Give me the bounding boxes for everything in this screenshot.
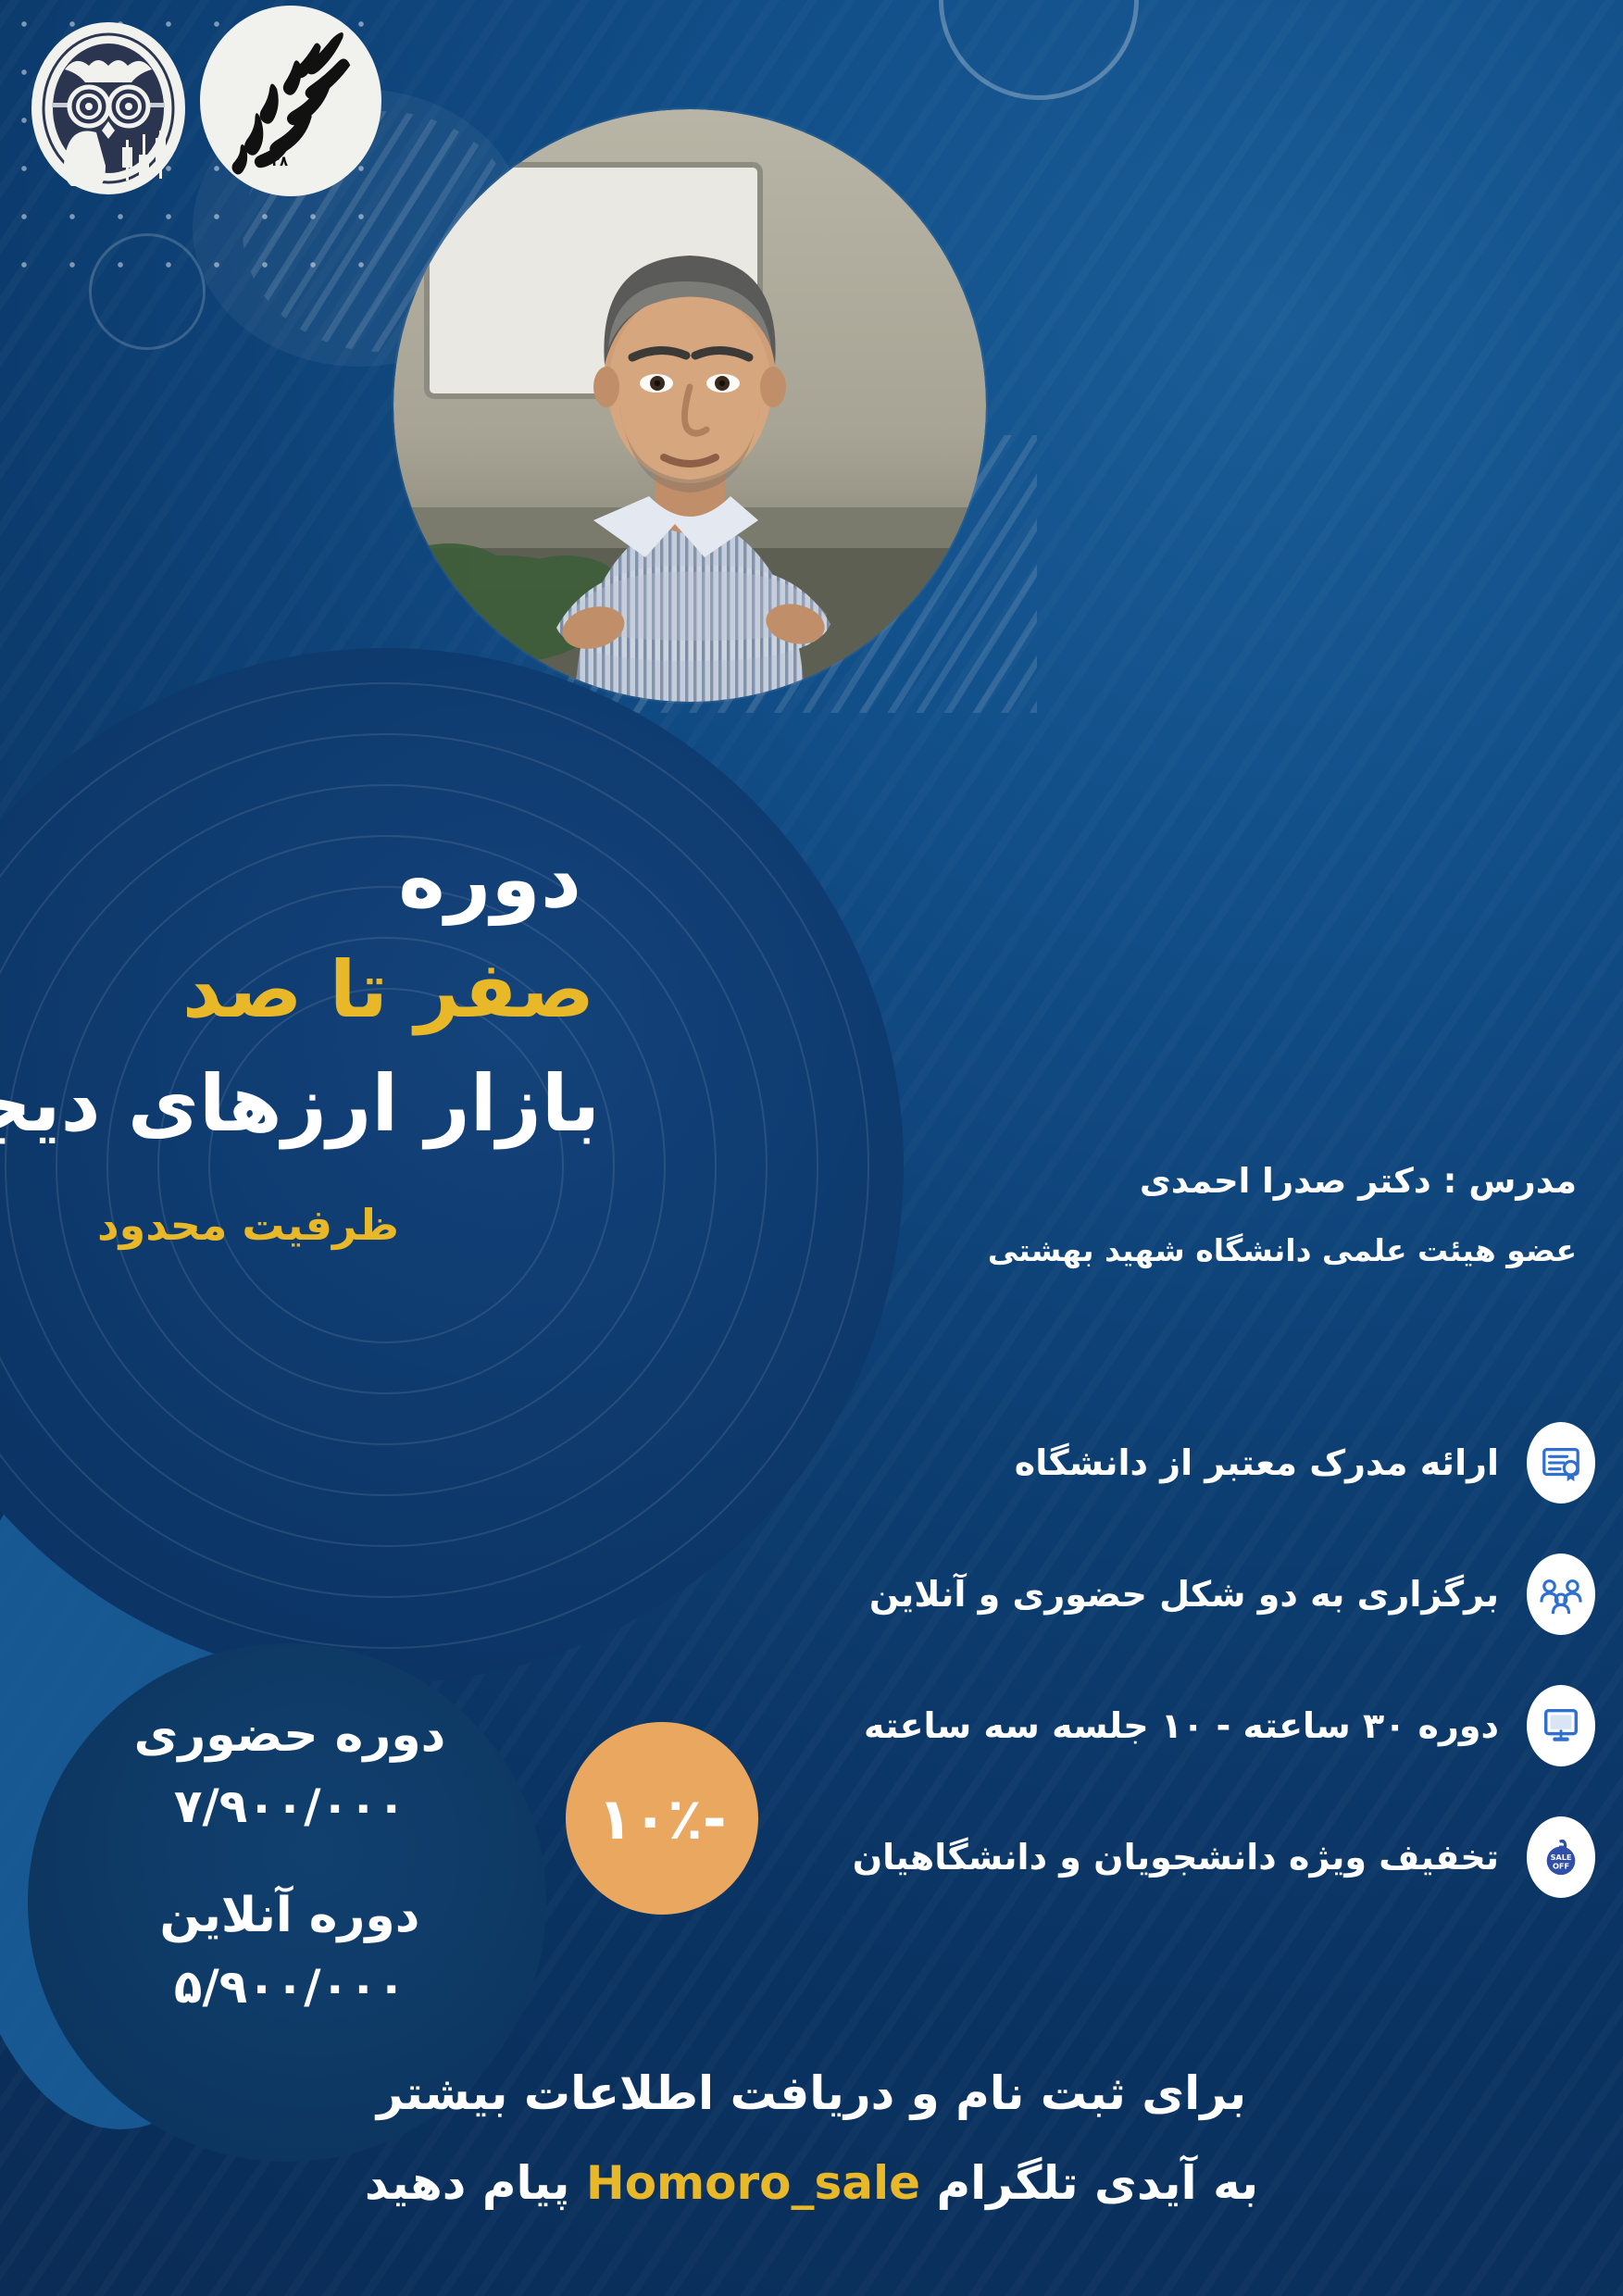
price-value-online: ۵/۹۰۰/۰۰۰	[72, 1957, 507, 2017]
price-label-inperson: دوره حضوری	[72, 1708, 507, 1764]
title-line-3-subject: بازار ارزهای دیجیتال	[7, 1059, 600, 1149]
feature-row-format: برگزاری به دو شکل حضوری و آنلاین	[595, 1539, 1604, 1650]
title-line-2-highlight: صفر تا صد	[7, 945, 600, 1035]
instructor-credit-block: مدرس : دکتر صدرا احمدی عضو هیئت علمی دان…	[595, 1157, 1586, 1272]
course-title-block: دوره صفر تا صد بازار ارزهای دیجیتال ظرفی…	[7, 838, 600, 1252]
instructor-portrait	[393, 109, 986, 702]
ring-decoration-small	[89, 233, 206, 350]
price-label-online: دوره آنلاین	[72, 1889, 507, 1944]
pricing-block: دوره حضوری ۷/۹۰۰/۰۰۰ دوره آنلاین ۵/۹۰۰/۰…	[72, 1708, 507, 2017]
monitor-icon	[1527, 1685, 1595, 1766]
telegram-handle[interactable]: Homoro_sale	[586, 2156, 920, 2210]
instructor-affiliation: عضو هیئت علمی دانشگاه شهید بهشتی	[595, 1229, 1577, 1272]
feature-label-certificate: ارائه مدرک معتبر از دانشگاه	[1015, 1442, 1499, 1483]
call-to-action-block: برای ثبت نام و دریافت اطلاعات بیشتر به آ…	[0, 2060, 1623, 2216]
svg-text:۱۳۳۸: ۱۳۳۸	[255, 154, 288, 169]
cta-text-after: پیام دهید	[365, 2156, 586, 2210]
discount-badge-label: -۱۰٪	[597, 1785, 726, 1853]
feature-label-duration: دوره ۳۰ ساعته - ۱۰ جلسه سه ساعته	[864, 1705, 1499, 1746]
title-line-1: دوره	[7, 838, 600, 921]
sale-tag-line2: OFF	[1553, 1861, 1569, 1870]
feature-row-certificate: ارائه مدرک معتبر از دانشگاه	[595, 1407, 1604, 1518]
sale-tag-line1: SALE	[1551, 1853, 1572, 1862]
cta-text-before: به آیدی تلگرام	[920, 2156, 1258, 2210]
shahid-beheshti-university-logo: ۱۳۳۸	[200, 6, 381, 196]
sale-tag-icon: SALE OFF	[1527, 1816, 1595, 1898]
discount-badge: -۱۰٪	[566, 1722, 758, 1915]
feature-label-format: برگزاری به دو شکل حضوری و آنلاین	[869, 1574, 1499, 1615]
users-group-icon	[1527, 1554, 1595, 1635]
limited-capacity-note: ظرفیت محدود	[7, 1200, 600, 1251]
price-value-inperson: ۷/۹۰۰/۰۰۰	[72, 1777, 507, 1837]
cta-line-1: برای ثبت نام و دریافت اطلاعات بیشتر	[37, 2060, 1586, 2128]
owl-trading-logo	[31, 22, 185, 194]
feature-label-discount: تخفیف ویژه دانشجویان و دانشگاهیان	[853, 1837, 1499, 1878]
feature-row-duration: دوره ۳۰ ساعته - ۱۰ جلسه سه ساعته	[595, 1670, 1604, 1781]
poster-root: ۱۳۳۸	[0, 0, 1623, 2296]
instructor-name: مدرس : دکتر صدرا احمدی	[595, 1157, 1577, 1205]
cta-line-2: به آیدی تلگرام Homoro_sale پیام دهید	[37, 2150, 1586, 2217]
certificate-icon	[1527, 1422, 1595, 1504]
